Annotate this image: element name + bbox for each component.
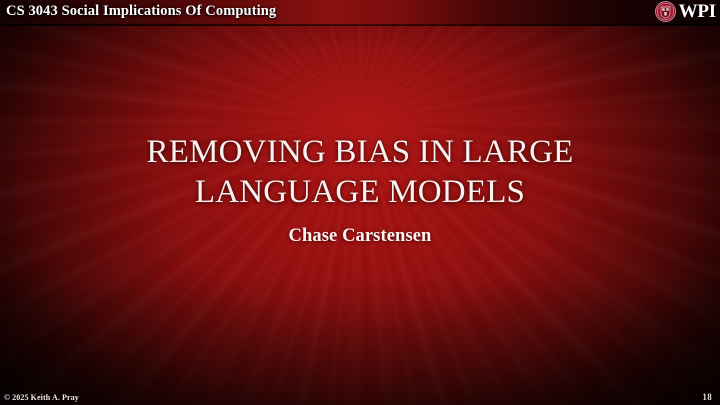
- wpi-logo: WPI: [655, 1, 716, 22]
- wpi-seal-icon: [655, 1, 676, 22]
- presentation-slide: CS 3043 Social Implications Of Computing…: [0, 0, 720, 405]
- slide-title: REMOVING BIAS IN LARGE LANGUAGE MODELS: [50, 132, 670, 212]
- title-block: REMOVING BIAS IN LARGE LANGUAGE MODELS C…: [50, 132, 670, 247]
- footer-copyright: © 2025 Keith A. Pray: [4, 393, 79, 402]
- course-title: CS 3043 Social Implications Of Computing: [6, 3, 276, 20]
- slide-page-number: 18: [702, 392, 712, 402]
- slide-subtitle-author: Chase Carstensen: [50, 225, 670, 247]
- wpi-logo-text: WPI: [679, 1, 716, 22]
